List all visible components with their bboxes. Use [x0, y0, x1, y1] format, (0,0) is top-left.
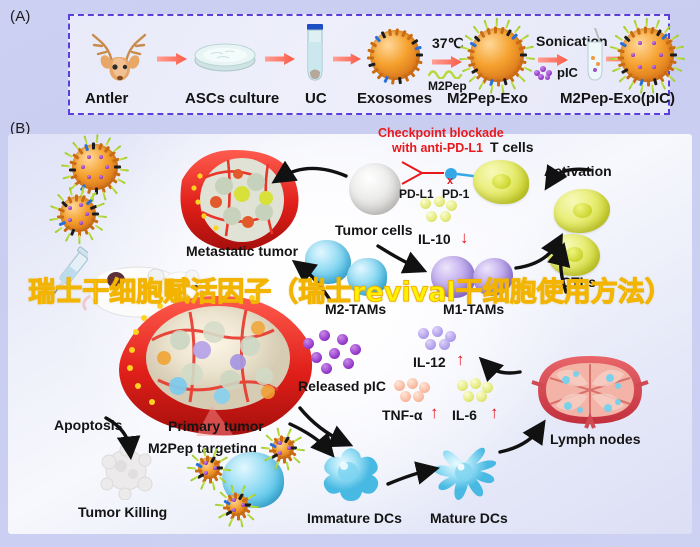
- targeting-exosome-icon-3: [226, 494, 248, 516]
- apoptosis-label: Apoptosis: [54, 418, 122, 432]
- checkpoint-blockade-line2: with anti-PD-L1: [392, 142, 483, 155]
- centrifuge-tube-icon: [303, 24, 327, 82]
- il10-cytokine-cluster: [418, 196, 458, 224]
- tnfa-label: TNF-α: [382, 408, 422, 422]
- il12-label: IL-12: [413, 355, 446, 369]
- sonicator-icon: [584, 28, 606, 84]
- deer-antler-icon: [84, 22, 154, 84]
- targeting-exosome-icon-1: [272, 437, 294, 459]
- tumor-killing-label: Tumor Killing: [78, 505, 167, 519]
- panel-a-step-label-m2pepexo: M2Pep-Exo: [447, 91, 528, 106]
- panel-a-step-label-m2pepexopic: M2Pep-Exo(pIC): [560, 91, 675, 106]
- il10-down-arrow: ↓: [460, 229, 469, 246]
- free-exosome-icon-1: [72, 144, 118, 190]
- panel-a-label: (A): [10, 8, 31, 25]
- metastatic-tumor-label: Metastatic tumor: [186, 244, 298, 258]
- il10-label: IL-10: [418, 232, 451, 246]
- peptide-exosome-icon: [470, 28, 524, 82]
- activation-label: Activation: [544, 164, 612, 178]
- anti-pdl1-antibody-icon: [400, 158, 446, 188]
- il6-label: IL-6: [452, 408, 477, 422]
- pic-cluster-icon: [534, 66, 554, 80]
- immature-dc-icon: [320, 444, 382, 504]
- loaded-exosome-icon: [620, 28, 674, 82]
- mature-dcs-label: Mature DCs: [430, 511, 508, 525]
- il12-up-arrow: ↑: [456, 351, 465, 368]
- checkpoint-blockade-line1: Checkpoint blockade: [378, 127, 504, 140]
- lymph-nodes-label: Lymph nodes: [550, 432, 641, 446]
- il6-cytokine-cluster: [457, 378, 495, 404]
- panel-a-step-label-uc: UC: [305, 91, 327, 106]
- temperature-label: 37℃: [432, 36, 463, 50]
- figure-canvas: (A) Antler: [0, 0, 700, 547]
- t-cell-icon-1: [473, 160, 529, 204]
- t-cells-label: T cells: [490, 140, 534, 154]
- watermark-text: 瑞士干细胞赋活因子（瑞士revival干细胞使用方法）: [0, 270, 700, 309]
- primary-tumor-illustration: [118, 288, 318, 436]
- blockade-x-marker: x: [447, 176, 453, 187]
- il6-up-arrow: ↑: [490, 404, 499, 421]
- tumor-cell-icon: [349, 163, 401, 215]
- tnfa-cytokine-cluster: [394, 378, 432, 404]
- targeting-exosome-icon-2: [198, 457, 220, 479]
- process-arrow-3: [333, 52, 361, 64]
- released-pic-label: Released pIC: [298, 379, 386, 393]
- process-arrow-5: [536, 53, 570, 65]
- il12-cytokine-cluster: [418, 326, 458, 352]
- panel-a-step-label-ascs: ASCs culture: [185, 91, 279, 106]
- panel-a-step-label-exosomes: Exosomes: [357, 91, 432, 106]
- exosome-icon: [370, 30, 420, 80]
- metastatic-tumor-illustration: [176, 146, 304, 250]
- tumor-cells-label: Tumor cells: [335, 223, 413, 237]
- panel-a-step-label-antler: Antler: [85, 91, 128, 106]
- immature-dcs-label: Immature DCs: [307, 511, 402, 525]
- petri-dish-icon: [193, 40, 257, 74]
- primary-tumor-label: Primary tumor: [168, 419, 264, 433]
- released-pic-cluster: [303, 330, 361, 374]
- lymph-node-illustration: [530, 348, 650, 434]
- process-arrow-1: [157, 52, 187, 64]
- free-exosome-icon-2: [60, 196, 96, 232]
- tnfa-up-arrow: ↑: [430, 404, 439, 421]
- mature-dc-icon: [432, 442, 500, 506]
- pic-label: pIC: [557, 66, 578, 79]
- process-arrow-2: [265, 52, 295, 64]
